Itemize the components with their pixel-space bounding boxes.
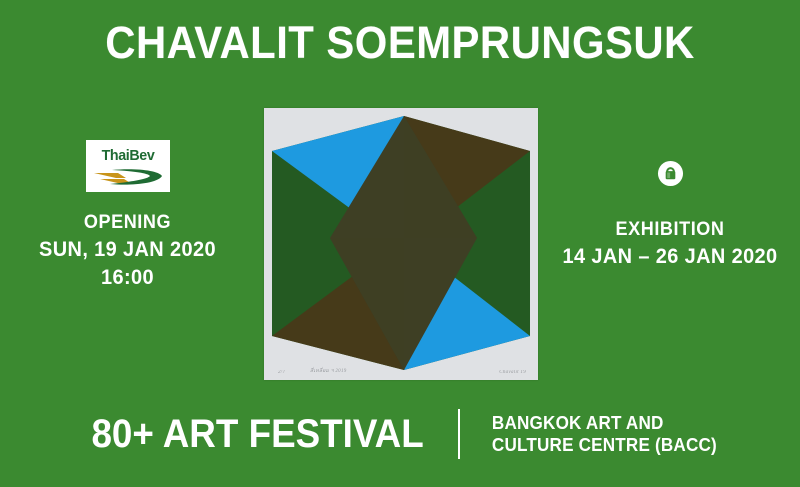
banner-divider [458,409,460,459]
venue-line-2: CULTURE CENTRE (BACC) [492,434,717,457]
opening-label: OPENING [6,210,248,236]
thaibev-logo-bev: Bev [129,147,154,164]
opening-info-panel: ThaiBev OPENING SUN, 19 JAN 2020 16:00 [0,140,255,292]
thaibev-swoosh-icon [92,166,164,188]
poster-canvas: CHAVALIT SOEMPRUNGSUK ThaiBev OPENING SU… [0,0,800,487]
artwork-bottom-margin [264,370,538,380]
artwork-edition-note: 2/7 [278,370,285,375]
bottom-banner: 80+ ART FESTIVAL BANGKOK ART AND CULTURE… [0,409,800,459]
festival-title: 80+ ART FESTIVAL [91,414,423,454]
artwork-signature: Chavalit 19 [499,370,526,375]
exhibition-label: EXHIBITION [547,217,794,243]
page-title: CHAVALIT SOEMPRUNGSUK [28,18,772,68]
venue-name: BANGKOK ART AND CULTURE CENTRE (BACC) [492,412,717,457]
artwork-print: 2/7 สี่เหลี่ยม ฯ 2019 Chavalit 19 [264,108,538,380]
exhibition-info-panel: EXHIBITION 14 JAN – 26 JAN 2020 [540,160,800,271]
exhibition-date-range: 14 JAN – 26 JAN 2020 [547,243,794,271]
venue-line-1: BANGKOK ART AND [492,412,717,435]
opening-date: SUN, 19 JAN 2020 [6,236,248,264]
thaibev-logo: ThaiBev [86,140,170,192]
artwork-title-note: สี่เหลี่ยม ฯ 2019 [310,367,347,375]
thaibev-logo-thai: Thai [101,147,129,164]
artwork-geometry [264,108,538,380]
thaibev-logo-text: ThaiBev [88,147,168,164]
opening-time: 16:00 [6,264,248,292]
lock-circle-icon [657,160,684,187]
